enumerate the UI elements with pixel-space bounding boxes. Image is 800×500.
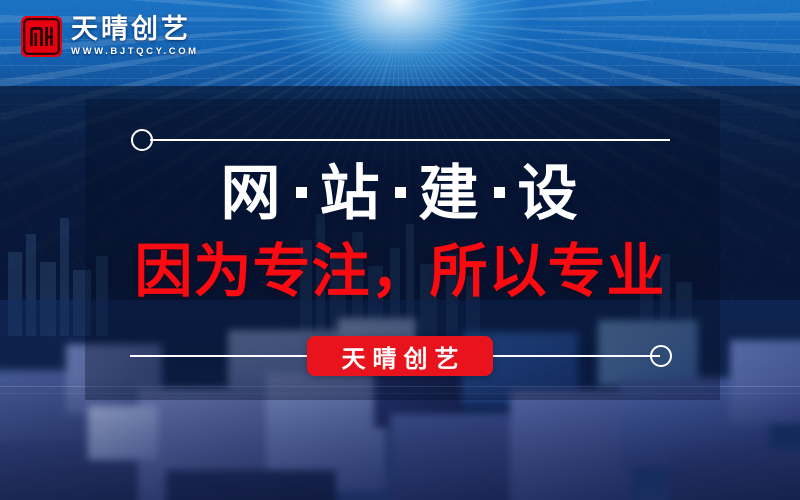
headline-dot-2 <box>395 187 406 198</box>
brand-name-cn: 天晴创艺 <box>71 15 199 43</box>
headline-char-4: 设 <box>518 164 580 224</box>
brand-badge[interactable]: 天晴创艺 <box>307 336 493 376</box>
page-subtitle: 因为专注，所以专业 <box>0 243 800 301</box>
headline-char-1: 网 <box>221 164 283 224</box>
banner-stage: 天晴创艺 WWW.BJTQCY.COM 网 站 建 设 因为专注，所以专业 天晴… <box>0 0 800 500</box>
decor-ring-left-icon <box>131 129 153 151</box>
headline-char-2: 站 <box>320 164 382 224</box>
brand-website-url: WWW.BJTQCY.COM <box>71 46 199 57</box>
headline-char-3: 建 <box>419 164 481 224</box>
decor-ring-right-icon <box>650 345 672 367</box>
headline-dot-3 <box>494 187 505 198</box>
page-title: 网 站 建 设 <box>0 164 800 224</box>
brand-logo-text: 天晴创艺 WWW.BJTQCY.COM <box>71 15 199 57</box>
tianqing-monogram-icon <box>21 16 62 57</box>
headline-dot-1 <box>296 187 307 198</box>
decor-rule-top <box>150 139 670 141</box>
brand-logo[interactable]: 天晴创艺 WWW.BJTQCY.COM <box>21 15 199 57</box>
